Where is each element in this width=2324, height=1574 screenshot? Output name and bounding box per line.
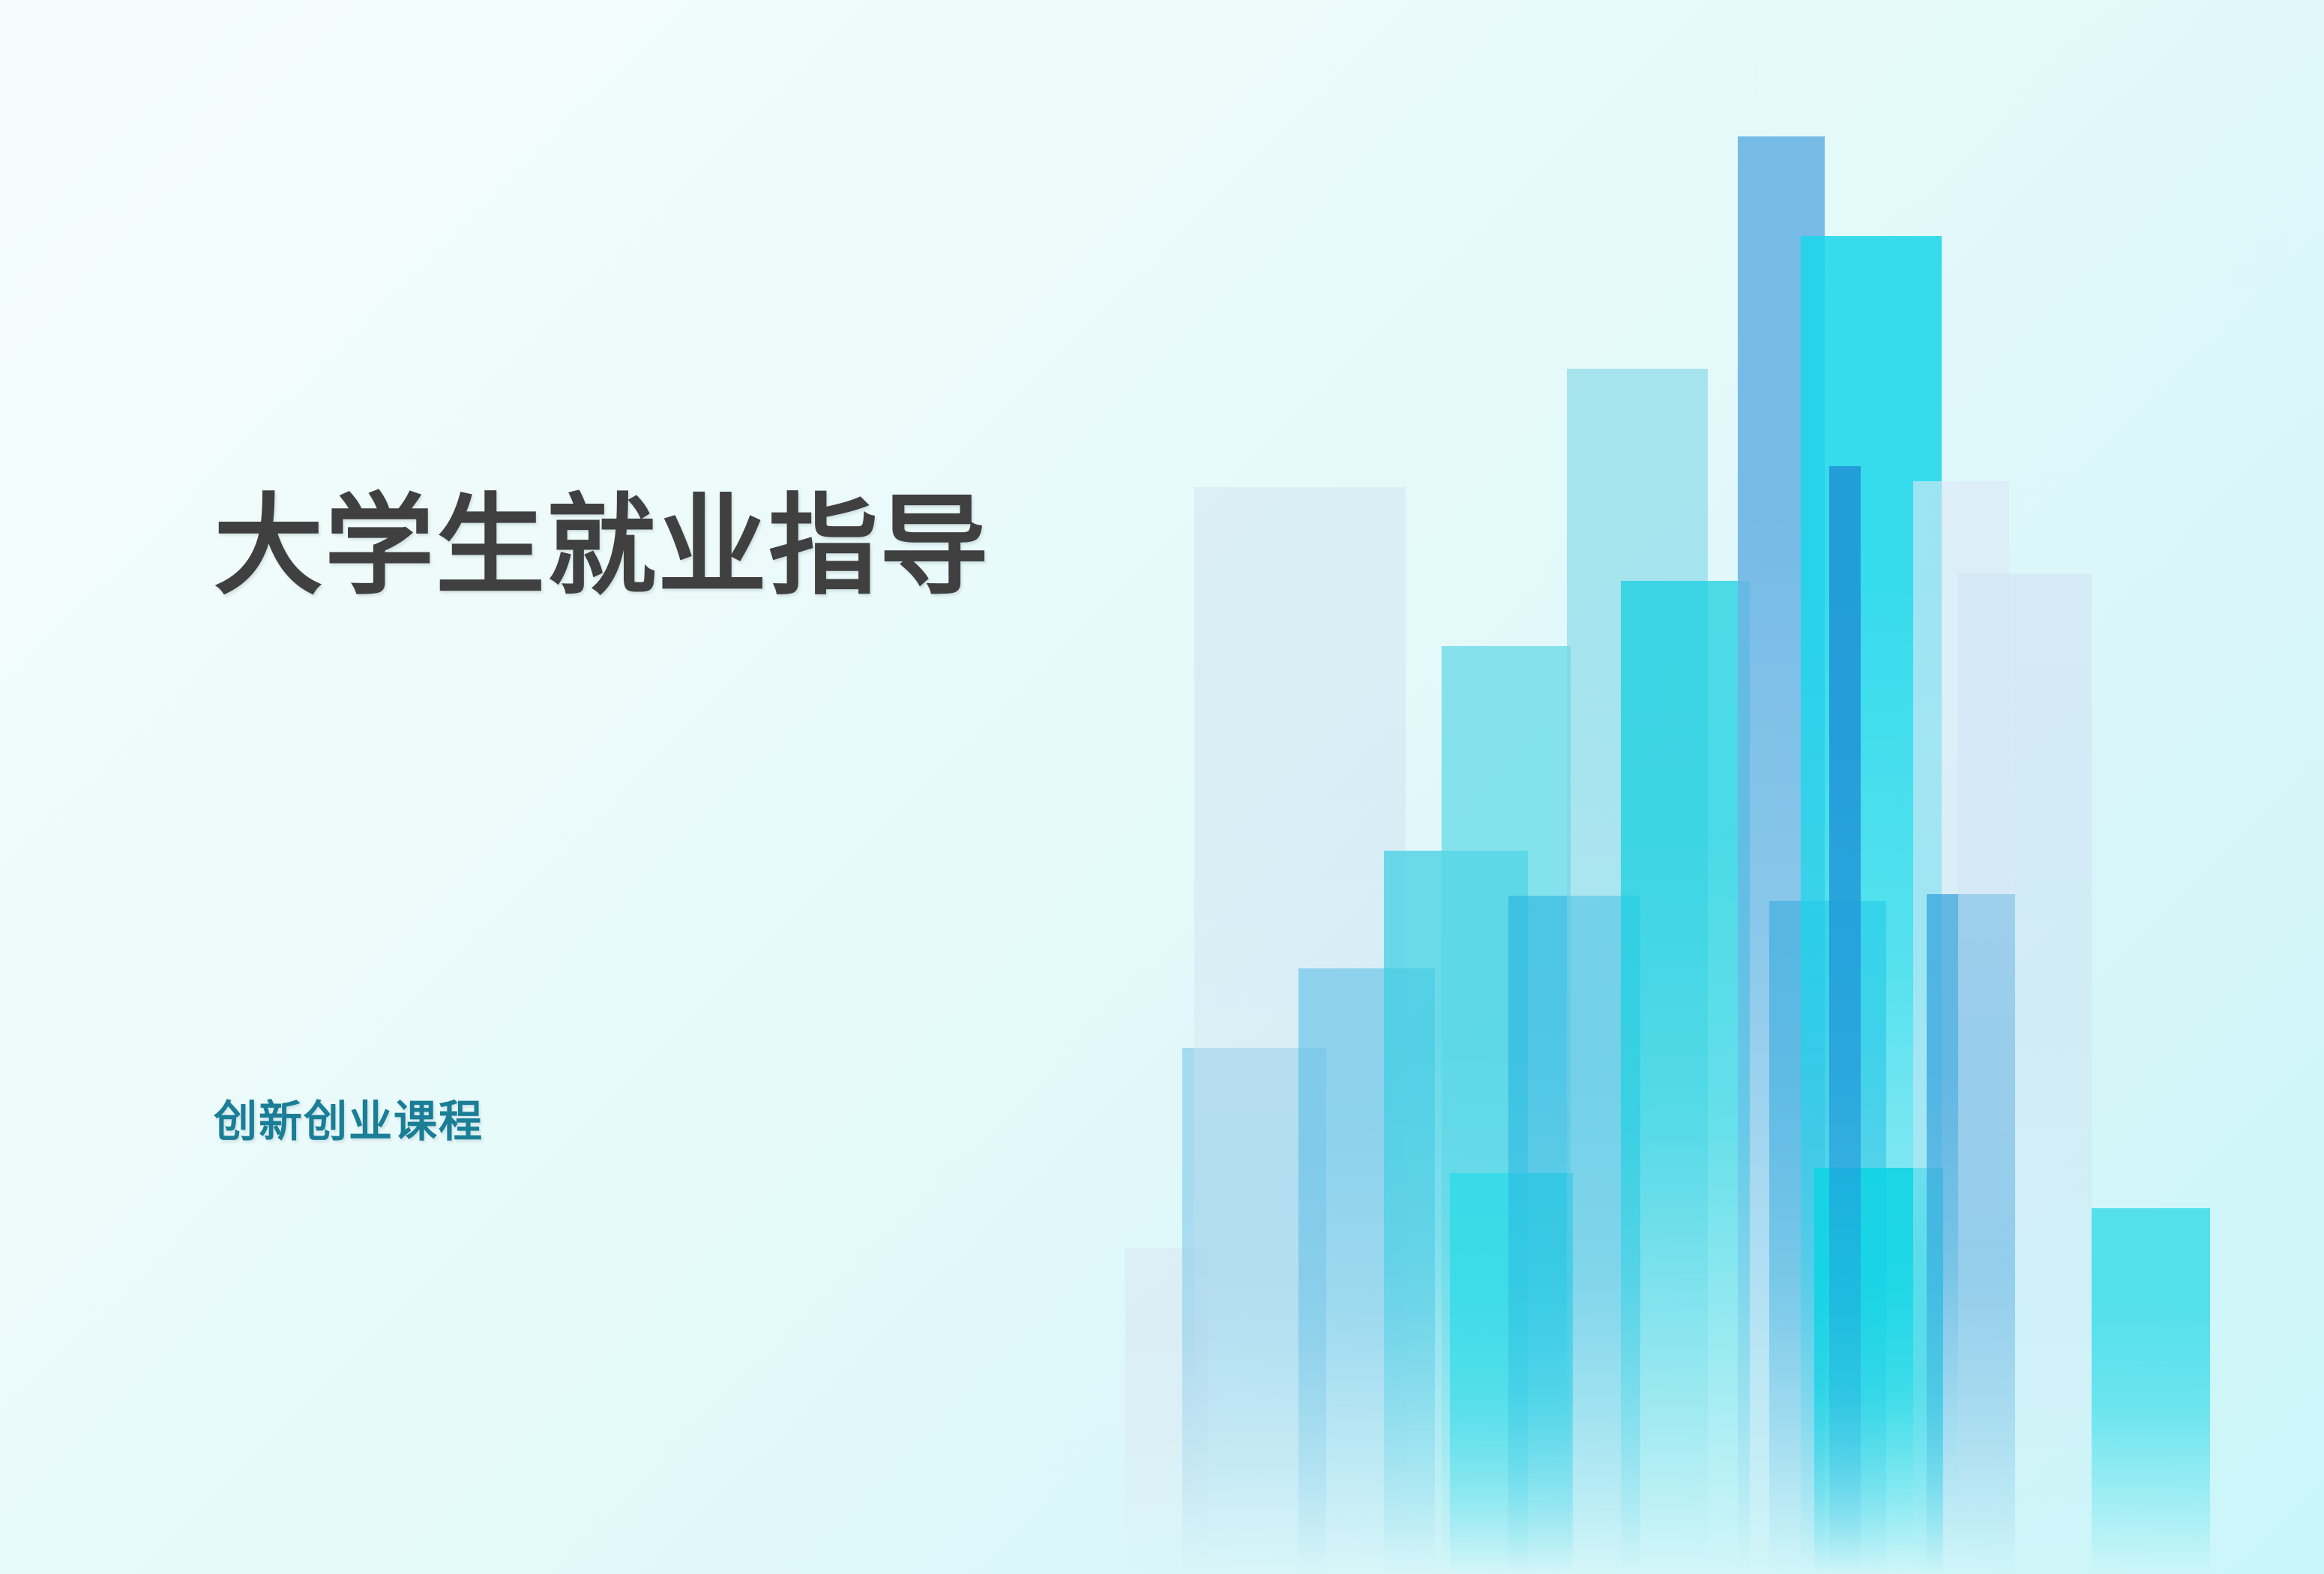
bar-14: [1814, 1168, 1943, 1574]
bar-12: [1769, 901, 1886, 1574]
page-subtitle: 创新创业课程: [214, 1096, 484, 1148]
bar-1: [1125, 1248, 1208, 1574]
bar-19: [2092, 1208, 2210, 1574]
presentation-slide: 大学生就业指导 创新创业课程: [0, 0, 2324, 1574]
bar-7: [1450, 1173, 1573, 1574]
bar-8: [1508, 896, 1640, 1574]
bar-17: [1927, 894, 2015, 1574]
bar-9: [1567, 369, 1708, 1574]
bar-4: [1298, 968, 1435, 1574]
bar-6: [1442, 646, 1571, 1574]
bar-11: [1738, 136, 1825, 1574]
title-block: 大学生就业指导 创新创业课程: [214, 480, 1113, 613]
abstract-bar-cluster-graphic: [1110, 97, 2324, 1574]
bar-16: [1913, 481, 2009, 1574]
bar-10: [1621, 581, 1750, 1574]
bar-15: [1829, 466, 1861, 1574]
bar-5: [1384, 851, 1528, 1574]
bar-2: [1182, 1048, 1326, 1574]
bar-3: [1194, 487, 1406, 1574]
page-title: 大学生就业指导: [214, 480, 1113, 613]
bar-18: [1958, 573, 2092, 1574]
bar-13: [1801, 236, 1942, 1574]
